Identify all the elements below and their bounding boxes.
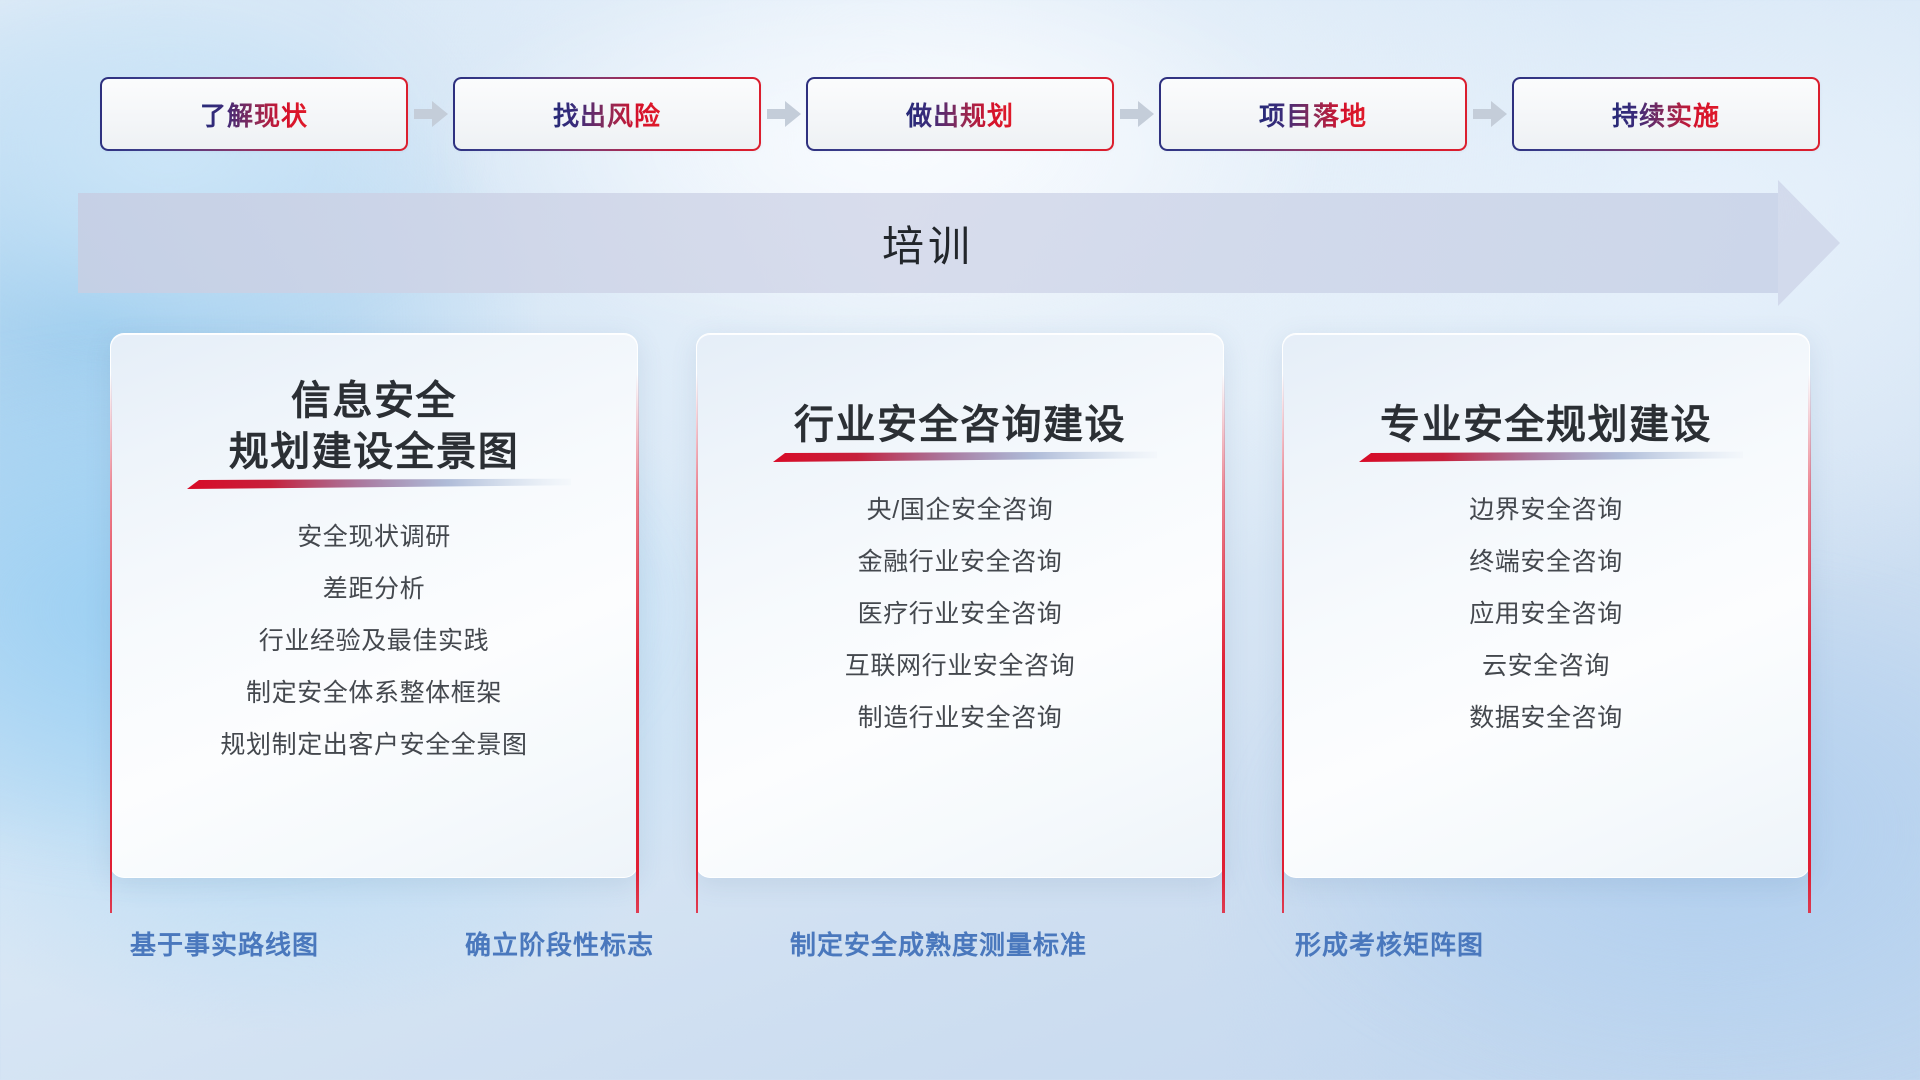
chevron-right-arrow-icon [1120,101,1154,127]
card-accent-right [1808,374,1810,913]
training-banner: 培训 [78,193,1838,293]
list-item: 制造行业安全咨询 [697,706,1223,731]
footer-label-row: 基于事实路线图 确立阶段性标志 制定安全成熟度测量标准 形成考核矩阵图 [0,925,1920,971]
card-title: 行业安全咨询建设 [697,400,1223,451]
step-box-2[interactable]: 找出风险 [454,78,761,150]
card-accent-left [696,374,698,913]
card-accent-left [1282,374,1284,913]
process-step-row: 了解现状 找出风险 做出规划 项目落地 持续实施 [0,78,1920,150]
background-bloom-topleft [0,0,480,360]
list-item: 金融行业安全咨询 [697,550,1223,575]
list-item: 互联网行业安全咨询 [697,654,1223,679]
list-item: 医疗行业安全咨询 [697,602,1223,627]
card-item-list: 安全现状调研 差距分析 行业经验及最佳实践 制定安全体系整体框架 规划制定出客户… [111,525,637,758]
step-label-3: 做出规划 [906,96,1014,133]
card-title: 专业安全规划建设 [1283,400,1809,451]
tapered-gradient-divider-icon [177,478,571,491]
list-item: 差距分析 [111,577,637,602]
footer-label-3: 制定安全成熟度测量标准 [790,925,1087,962]
step-separator-1 [408,78,454,150]
card-professional-planning[interactable]: 专业安全规划建设 边界安全咨询 终端安全咨询 应用安 [1282,333,1810,878]
card-item-list: 边界安全咨询 终端安全咨询 应用安全咨询 云安全咨询 数据安全咨询 [1283,498,1809,731]
footer-label-2: 确立阶段性标志 [465,925,654,962]
card-title: 信息安全 规划建设全景图 [111,376,637,478]
step-separator-3 [1114,78,1160,150]
footer-label-4: 形成考核矩阵图 [1295,925,1484,962]
step-label-5: 持续实施 [1612,96,1720,133]
list-item: 数据安全咨询 [1283,706,1809,731]
step-label-4: 项目落地 [1259,96,1367,133]
tapered-gradient-divider-icon [1349,451,1743,464]
list-item: 终端安全咨询 [1283,550,1809,575]
list-item: 行业经验及最佳实践 [111,629,637,654]
step-label-2: 找出风险 [553,96,661,133]
step-label-1: 了解现状 [200,96,308,133]
card-accent-right [636,374,638,913]
chevron-right-arrow-icon [414,101,448,127]
tapered-gradient-divider-icon [763,451,1157,464]
card-row: 信息安全 规划建设全景图 安全现状调研 差距分析 行 [110,333,1810,543]
right-arrow-banner-icon [1778,180,1840,306]
card-accent-left [110,374,112,913]
step-box-4[interactable]: 项目落地 [1160,78,1467,150]
step-box-5[interactable]: 持续实施 [1513,78,1820,150]
step-box-3[interactable]: 做出规划 [807,78,1114,150]
list-item: 应用安全咨询 [1283,602,1809,627]
card-item-list: 央/国企安全咨询 金融行业安全咨询 医疗行业安全咨询 互联网行业安全咨询 制造行… [697,498,1223,731]
list-item: 边界安全咨询 [1283,498,1809,523]
step-separator-2 [761,78,807,150]
card-accent-right [1222,374,1224,913]
chevron-right-arrow-icon [767,101,801,127]
training-banner-title: 培训 [78,193,1778,293]
step-separator-4 [1467,78,1513,150]
card-overview[interactable]: 信息安全 规划建设全景图 安全现状调研 差距分析 行 [110,333,638,878]
list-item: 央/国企安全咨询 [697,498,1223,523]
chevron-right-arrow-icon [1473,101,1507,127]
list-item: 云安全咨询 [1283,654,1809,679]
card-industry-consulting[interactable]: 行业安全咨询建设 央/国企安全咨询 金融行业安全咨询 [696,333,1224,878]
list-item: 安全现状调研 [111,525,637,550]
footer-label-1: 基于事实路线图 [130,925,319,962]
list-item: 制定安全体系整体框架 [111,681,637,706]
list-item: 规划制定出客户安全全景图 [111,733,637,758]
step-box-1[interactable]: 了解现状 [101,78,408,150]
